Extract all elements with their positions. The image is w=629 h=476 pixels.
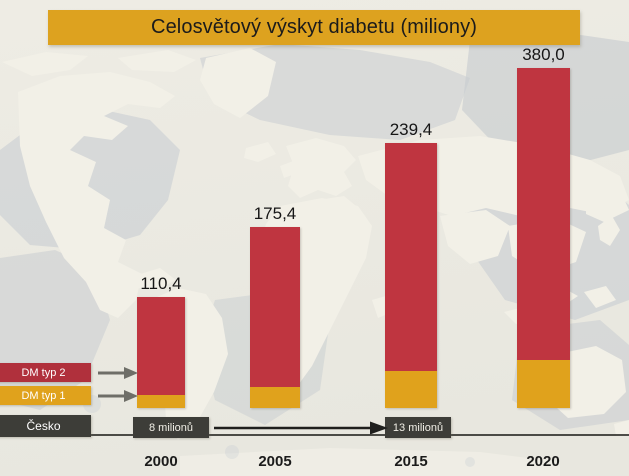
- x-tick-2005: 2005: [235, 453, 315, 470]
- legend-label-cesko: Česko: [26, 419, 60, 433]
- bar-value-2015: 239,4: [385, 120, 437, 140]
- bar-2015-segment-type1: [385, 371, 437, 408]
- legend-item-dm-typ-2[interactable]: DM typ 2: [0, 363, 91, 382]
- legend-item-cesko[interactable]: Česko: [0, 415, 91, 437]
- badge-cesko-2015[interactable]: 13 milionů: [385, 417, 451, 438]
- bar-2005[interactable]: [250, 227, 300, 408]
- bar-2000-segment-type1: [137, 395, 185, 408]
- bar-2020[interactable]: [517, 68, 570, 408]
- badge-cesko-2000-label: 8 milionů: [149, 422, 193, 434]
- bar-2005-segment-type1: [250, 387, 300, 408]
- bar-2020-segment-type1: [517, 360, 570, 408]
- bar-value-2020: 380,0: [517, 45, 570, 65]
- bar-value-2000: 110,4: [137, 274, 185, 294]
- legend-label-dm-typ-2: DM typ 2: [21, 367, 65, 379]
- x-tick-2020: 2020: [503, 453, 583, 470]
- arrow-right-icon: [98, 364, 140, 382]
- legend-label-dm-typ-1: DM typ 1: [21, 390, 65, 402]
- infographic-canvas: Celosvětový výskyt diabetu (miliony) 110…: [0, 0, 629, 476]
- badge-cesko-2015-label: 13 milionů: [393, 422, 443, 434]
- x-tick-2015: 2015: [371, 453, 451, 470]
- badge-cesko-2000[interactable]: 8 milionů: [133, 417, 209, 438]
- bar-2015[interactable]: [385, 143, 437, 408]
- long-arrow-right-icon: [214, 419, 390, 437]
- bar-value-2005: 175,4: [250, 204, 300, 224]
- arrow-right-icon: [98, 387, 140, 405]
- legend-item-dm-typ-1[interactable]: DM typ 1: [0, 386, 91, 405]
- x-tick-2000: 2000: [121, 453, 201, 470]
- bar-chart-plot: 110,4 175,4 239,4 380,0 2000 2005 2015 2…: [0, 0, 629, 476]
- bar-2000[interactable]: [137, 297, 185, 408]
